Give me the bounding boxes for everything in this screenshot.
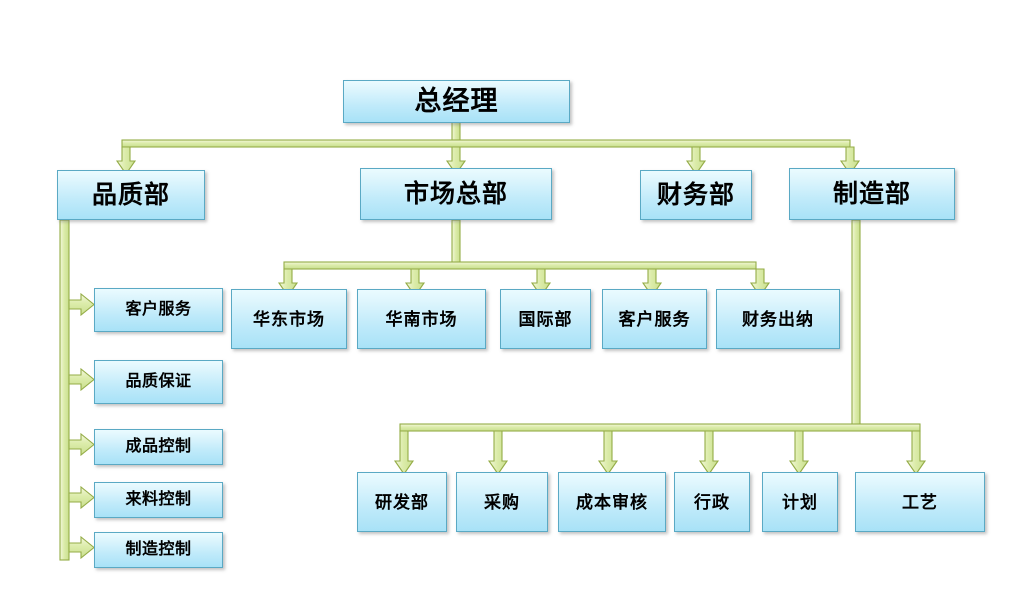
node-label: 市场总部 (404, 182, 508, 207)
node-label: 工艺 (902, 494, 938, 511)
node-label: 制造部 (833, 182, 911, 207)
node-administration[interactable]: 行政 (674, 472, 750, 532)
node-finished-goods-control[interactable]: 成品控制 (94, 429, 223, 465)
node-label: 华东市场 (253, 311, 325, 328)
node-quality-department[interactable]: 品质部 (57, 170, 205, 220)
node-market-headquarters[interactable]: 市场总部 (360, 168, 552, 220)
node-manufacturing-control[interactable]: 制造控制 (94, 532, 223, 568)
node-label: 制造控制 (125, 542, 191, 558)
node-label: 采购 (484, 494, 520, 511)
node-label: 成品控制 (125, 439, 191, 455)
node-incoming-material-control[interactable]: 来料控制 (94, 482, 223, 518)
node-south-china-market[interactable]: 华南市场 (357, 289, 486, 349)
node-market-customer-service[interactable]: 客户服务 (602, 289, 707, 349)
node-international-division[interactable]: 国际部 (500, 289, 591, 349)
node-label: 来料控制 (125, 492, 191, 508)
node-label: 成本审核 (576, 494, 648, 511)
node-label: 财务出纳 (742, 311, 814, 328)
node-purchasing[interactable]: 采购 (456, 472, 548, 532)
node-general-manager[interactable]: 总经理 (343, 80, 570, 123)
node-label: 品质部 (92, 183, 170, 208)
node-label: 客户服务 (619, 311, 691, 328)
org-chart-canvas: 总经理 品质部 市场总部 财务部 制造部 客户服务 品质保证 成品控制 来料控制… (0, 0, 1015, 595)
node-rnd-department[interactable]: 研发部 (357, 472, 447, 532)
node-finance-department[interactable]: 财务部 (640, 170, 752, 220)
node-east-china-market[interactable]: 华东市场 (231, 289, 347, 349)
node-label: 客户服务 (125, 302, 191, 318)
node-label: 研发部 (375, 494, 429, 511)
node-label: 品质保证 (125, 374, 191, 390)
node-quality-assurance[interactable]: 品质保证 (94, 360, 223, 404)
node-label: 计划 (782, 494, 818, 511)
node-quality-customer-service[interactable]: 客户服务 (94, 288, 223, 332)
node-label: 行政 (694, 494, 730, 511)
node-label: 财务部 (657, 183, 735, 208)
node-manufacturing-department[interactable]: 制造部 (789, 168, 955, 220)
node-finance-cashier[interactable]: 财务出纳 (716, 289, 840, 349)
node-label: 总经理 (415, 88, 499, 115)
node-label: 华南市场 (386, 311, 458, 328)
node-planning[interactable]: 计划 (762, 472, 838, 532)
node-process-engineering[interactable]: 工艺 (855, 472, 985, 532)
node-cost-audit[interactable]: 成本审核 (558, 472, 666, 532)
node-label: 国际部 (519, 311, 573, 328)
